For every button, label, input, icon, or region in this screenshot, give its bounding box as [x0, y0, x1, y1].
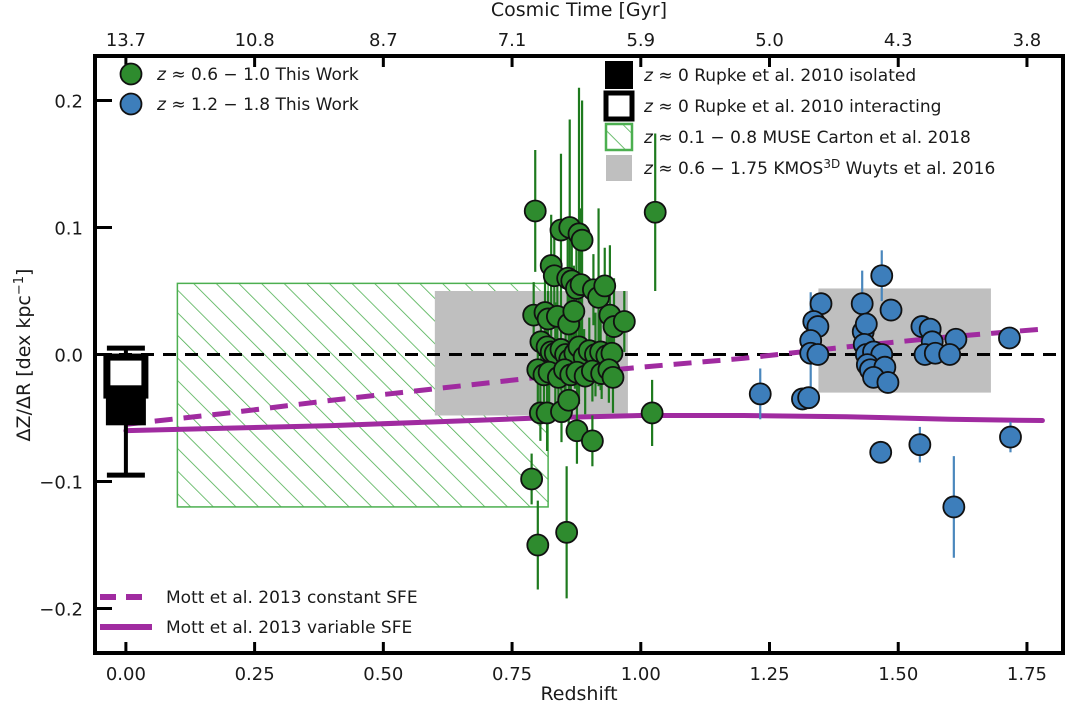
data-point	[525, 200, 546, 221]
top-tick-label: 10.8	[235, 30, 275, 51]
data-point	[602, 367, 623, 388]
data-point	[572, 230, 593, 251]
data-point	[642, 402, 663, 423]
data-point	[594, 275, 615, 296]
data-point	[871, 265, 892, 286]
data-point	[556, 522, 577, 543]
top-tick-label: 4.3	[884, 30, 913, 51]
legend-label: z ≈ 0.1 − 0.8 MUSE Carton et al. 2018	[643, 128, 971, 148]
data-point	[1000, 427, 1021, 448]
data-point	[614, 311, 635, 332]
x-tick-label: 1.50	[878, 664, 918, 685]
scatter-plot-canvas: 0.000.250.500.751.001.251.501.7513.710.8…	[0, 0, 1076, 707]
legend-label: z ≈ 0 Rupke et al. 2010 interacting	[643, 97, 941, 117]
legend-label: Mott et al. 2013 constant SFE	[166, 588, 418, 608]
legend-label: z ≈ 1.2 − 1.8 This Work	[156, 95, 359, 115]
data-point	[807, 344, 828, 365]
legend-label: z ≈ 0.6 − 1.75 KMOS3D Wuyts et al. 2016	[643, 157, 995, 179]
top-tick-label: 5.0	[755, 30, 784, 51]
top-tick-label: 8.7	[369, 30, 398, 51]
figure-root: 0.000.250.500.751.001.251.501.7513.710.8…	[0, 0, 1076, 707]
data-point	[582, 430, 603, 451]
data-point	[750, 383, 771, 404]
data-point	[563, 301, 584, 322]
x-tick-label: 1.25	[749, 664, 789, 685]
y-tick-label: 0.1	[54, 218, 83, 239]
data-point	[521, 468, 542, 489]
x-tick-label: 0.50	[363, 664, 403, 685]
data-point	[881, 300, 902, 321]
top-tick-label: 13.7	[106, 30, 146, 51]
data-point	[877, 372, 898, 393]
legend-marker-circle-blue	[121, 94, 142, 115]
legend-marker-open-square	[606, 93, 632, 119]
legend-marker-gray-square	[606, 155, 632, 181]
data-point	[870, 442, 891, 463]
legend-marker-hatched-square	[606, 124, 632, 150]
data-point	[909, 434, 930, 455]
y-tick-label: 0.2	[54, 91, 83, 112]
top-tick-label: 7.1	[498, 30, 527, 51]
x-tick-label: 0.25	[235, 664, 275, 685]
rupke-isolated-marker	[107, 386, 145, 424]
data-point	[856, 314, 877, 335]
data-point	[558, 390, 579, 411]
data-point	[939, 344, 960, 365]
data-point	[999, 327, 1020, 348]
data-point	[527, 535, 548, 556]
data-point	[852, 293, 873, 314]
data-point	[943, 496, 964, 517]
legend-marker-filled-square	[605, 61, 633, 89]
legend-marker-circle-green	[121, 64, 142, 85]
legend-label: Mott et al. 2013 variable SFE	[166, 618, 412, 638]
x-tick-label: 0.75	[492, 664, 532, 685]
x-tick-label: 1.75	[1007, 664, 1047, 685]
top-axis-label: Cosmic Time [Gyr]	[491, 0, 667, 21]
y-tick-label: −0.2	[39, 600, 83, 621]
y-tick-label: 0.0	[54, 346, 83, 367]
x-axis-label: Redshift	[540, 683, 617, 705]
y-tick-label: −0.1	[39, 473, 83, 494]
data-point	[645, 202, 666, 223]
data-point	[798, 387, 819, 408]
legend-label: z ≈ 0 Rupke et al. 2010 isolated	[643, 66, 916, 86]
top-tick-label: 3.8	[1013, 30, 1042, 51]
x-tick-label: 1.00	[621, 664, 661, 685]
x-tick-label: 0.00	[106, 664, 146, 685]
legend-label: z ≈ 0.6 − 1.0 This Work	[156, 65, 359, 85]
top-tick-label: 5.9	[626, 30, 655, 51]
